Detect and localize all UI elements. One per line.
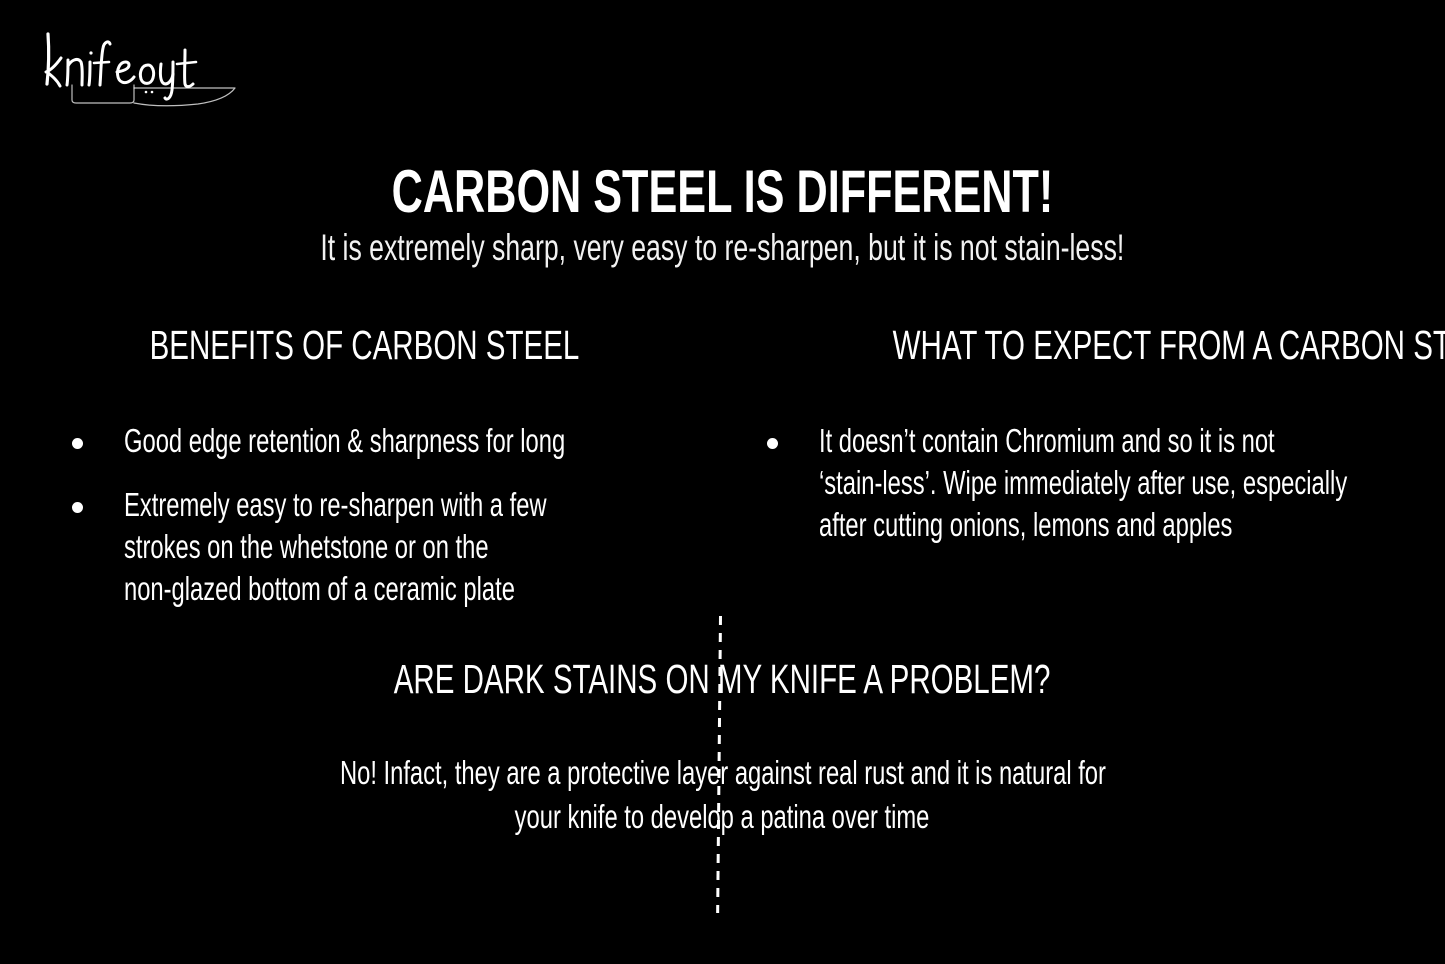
footer-section: ARE DARK STAINS ON MY KNIFE A PROBLEM? N… (0, 655, 1445, 839)
columns-section: BENEFITS OF CARBON STEEL Good edge reten… (0, 322, 1445, 612)
list-item: Extremely easy to re-sharpen with a few … (30, 484, 690, 610)
bullet-dot-icon (72, 438, 83, 449)
column-expectations: WHAT TO EXPECT FROM A CARBON STEEL KNIFE… (755, 322, 1425, 568)
bullet-dot-icon (72, 502, 83, 513)
footer-question-text: ARE DARK STAINS ON MY KNIFE A PROBLEM? (394, 655, 1051, 703)
expectations-bullet-list: It doesn’t contain Chromium and so it is… (755, 420, 1425, 546)
knifeout-logo[interactable] (30, 22, 245, 107)
column-benefits-heading: BENEFITS OF CARBON STEEL (30, 322, 690, 368)
column-expectations-heading-text: WHAT TO EXPECT FROM A CARBON STEEL KNIFE (893, 322, 1445, 368)
page-title-text: CARBON STEEL IS DIFFERENT! (392, 160, 1054, 224)
list-item: It doesn’t contain Chromium and so it is… (755, 420, 1425, 546)
list-item-line: It doesn’t contain Chromium and so it is… (819, 420, 1425, 462)
page-subtitle: It is extremely sharp, very easy to re-s… (0, 226, 1445, 270)
bullet-dot-icon (767, 438, 778, 449)
page-title: CARBON STEEL IS DIFFERENT! (0, 160, 1445, 224)
footer-answer-line: your knife to develop a patina over time (0, 795, 1445, 839)
list-item-line: strokes on the whetstone or on the (124, 526, 690, 568)
list-item-line: non-glazed bottom of a ceramic plate (124, 568, 690, 610)
footer-answer: No! Infact, they are a protective layer … (0, 751, 1445, 839)
benefits-bullet-list: Good edge retention & sharpness for long… (30, 420, 690, 610)
column-benefits: BENEFITS OF CARBON STEEL Good edge reten… (30, 322, 690, 632)
page-subtitle-text: It is extremely sharp, very easy to re-s… (321, 226, 1125, 270)
column-benefits-heading-text: BENEFITS OF CARBON STEEL (149, 322, 579, 368)
list-item-line: ‘stain-less’. Wipe immediately after use… (819, 462, 1425, 504)
list-item-line: after cutting onions, lemons and apples (819, 504, 1425, 546)
column-expectations-heading: WHAT TO EXPECT FROM A CARBON STEEL KNIFE (755, 322, 1425, 368)
footer-question: ARE DARK STAINS ON MY KNIFE A PROBLEM? (0, 655, 1445, 703)
knifeout-logo-mark (30, 22, 245, 107)
header: CARBON STEEL IS DIFFERENT! It is extreme… (0, 160, 1445, 270)
list-item-line: Extremely easy to re-sharpen with a few (124, 484, 690, 526)
list-item-line: Good edge retention & sharpness for long (124, 420, 690, 462)
footer-answer-line: No! Infact, they are a protective layer … (0, 751, 1445, 795)
list-item: Good edge retention & sharpness for long (30, 420, 690, 462)
